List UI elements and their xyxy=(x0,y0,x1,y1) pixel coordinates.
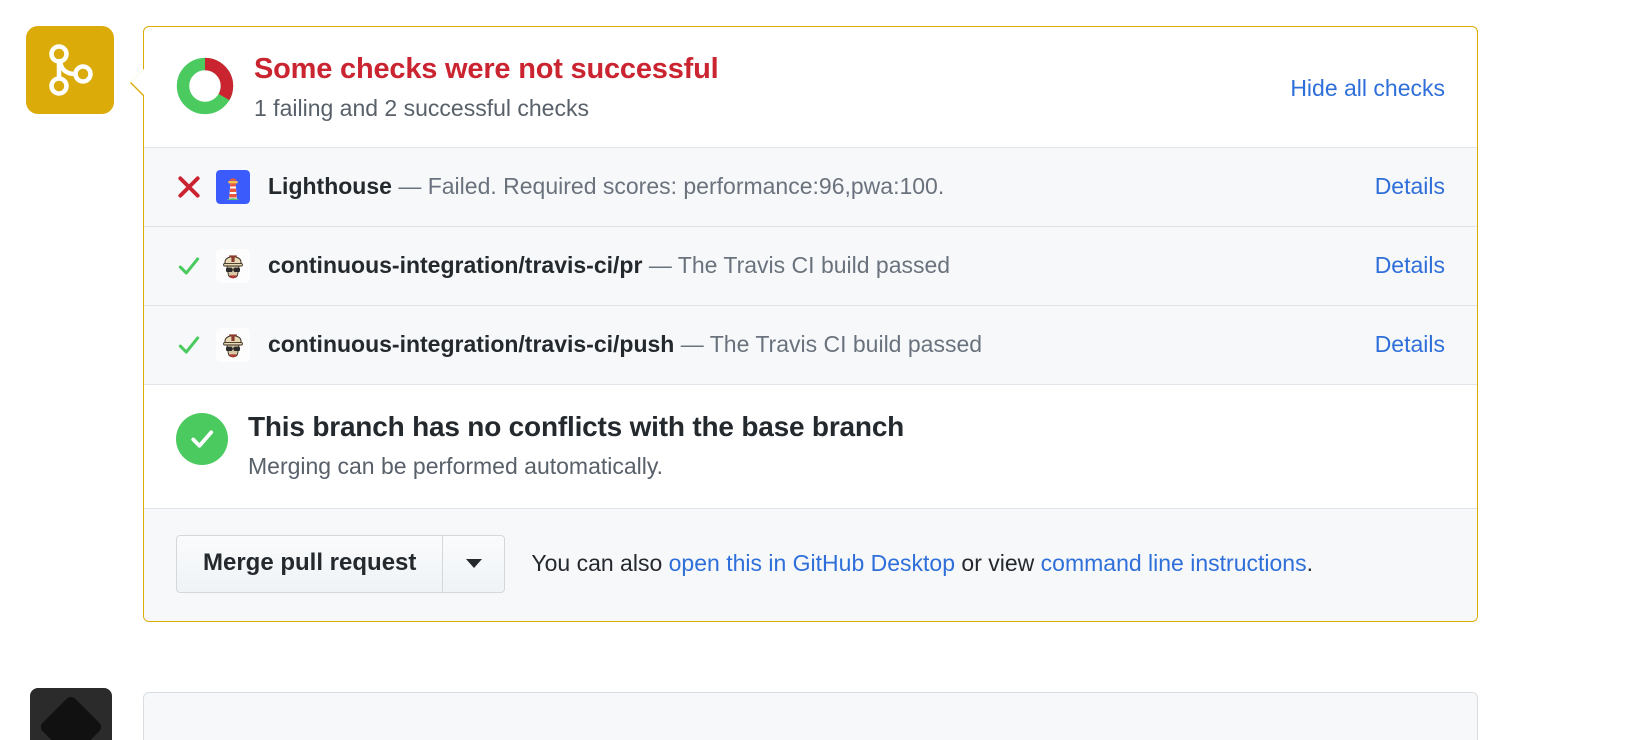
check-description: The Travis CI build passed xyxy=(678,252,950,278)
check-row[interactable]: continuous-integration/travis-ci/push — … xyxy=(144,305,1477,384)
merge-footer: Merge pull request You can also open thi… xyxy=(144,508,1477,620)
check-description: Failed. Required scores: performance:96,… xyxy=(428,173,945,199)
merge-footer-note: You can also open this in GitHub Desktop… xyxy=(531,550,1313,577)
checks-summary-header: Some checks were not successful 1 failin… xyxy=(144,27,1477,147)
x-icon xyxy=(176,174,216,200)
branch-conflicts-subtitle: Merging can be performed automatically. xyxy=(248,453,904,480)
branch-conflicts-section: This branch has no conflicts with the ba… xyxy=(144,384,1477,508)
check-row[interactable]: continuous-integration/travis-ci/pr — Th… xyxy=(144,226,1477,305)
checks-summary-subtitle: 1 failing and 2 successful checks xyxy=(254,95,718,123)
footer-note-suffix: . xyxy=(1307,550,1313,576)
check-name: continuous-integration/travis-ci/pr xyxy=(268,252,642,278)
checks-summary-text: Some checks were not successful 1 failin… xyxy=(254,53,718,123)
check-description: The Travis CI build passed xyxy=(710,331,982,357)
details-link[interactable]: Details xyxy=(1375,173,1445,200)
branch-conflicts-text: This branch has no conflicts with the ba… xyxy=(248,411,904,480)
details-link[interactable]: Details xyxy=(1375,331,1445,358)
check-row[interactable]: Lighthouse — Failed. Required scores: pe… xyxy=(144,147,1477,226)
chevron-down-icon xyxy=(466,559,482,568)
checks-donut-icon xyxy=(176,57,234,120)
check-circle-icon xyxy=(176,413,228,465)
git-merge-icon xyxy=(47,44,93,96)
open-in-github-desktop-link[interactable]: open this in GitHub Desktop xyxy=(669,550,955,576)
check-icon xyxy=(176,253,216,279)
merge-button-group: Merge pull request xyxy=(176,535,505,592)
check-name: continuous-integration/travis-ci/push xyxy=(268,331,674,357)
check-label: Lighthouse — Failed. Required scores: pe… xyxy=(268,173,944,200)
merge-options-dropdown-button[interactable] xyxy=(443,535,505,592)
check-label: continuous-integration/travis-ci/pr — Th… xyxy=(268,252,950,279)
command-line-instructions-link[interactable]: command line instructions xyxy=(1041,550,1307,576)
check-separator: — xyxy=(649,252,672,278)
check-name: Lighthouse xyxy=(268,173,392,199)
avatar-shape xyxy=(38,694,103,740)
merge-pull-request-button[interactable]: Merge pull request xyxy=(176,535,443,592)
footer-note-prefix: You can also xyxy=(531,550,668,576)
pull-request-merge-status-page: Some checks were not successful 1 failin… xyxy=(0,0,1644,740)
git-merge-badge xyxy=(26,26,114,114)
hide-all-checks-link[interactable]: Hide all checks xyxy=(1290,75,1445,102)
check-separator: — xyxy=(398,173,421,199)
merge-status-box: Some checks were not successful 1 failin… xyxy=(143,26,1478,622)
avatar[interactable] xyxy=(30,688,112,740)
callout-arrow-inner xyxy=(131,69,144,95)
check-separator: — xyxy=(681,331,704,357)
next-timeline-item xyxy=(143,692,1478,740)
travis-ci-avatar-icon xyxy=(216,249,250,283)
branch-conflicts-title: This branch has no conflicts with the ba… xyxy=(248,411,904,443)
travis-ci-avatar-icon xyxy=(216,328,250,362)
details-link[interactable]: Details xyxy=(1375,252,1445,279)
footer-note-middle: or view xyxy=(955,550,1041,576)
check-icon xyxy=(176,332,216,358)
checks-summary-title: Some checks were not successful xyxy=(254,53,718,86)
check-label: continuous-integration/travis-ci/push — … xyxy=(268,331,982,358)
lighthouse-avatar-icon xyxy=(216,170,250,204)
